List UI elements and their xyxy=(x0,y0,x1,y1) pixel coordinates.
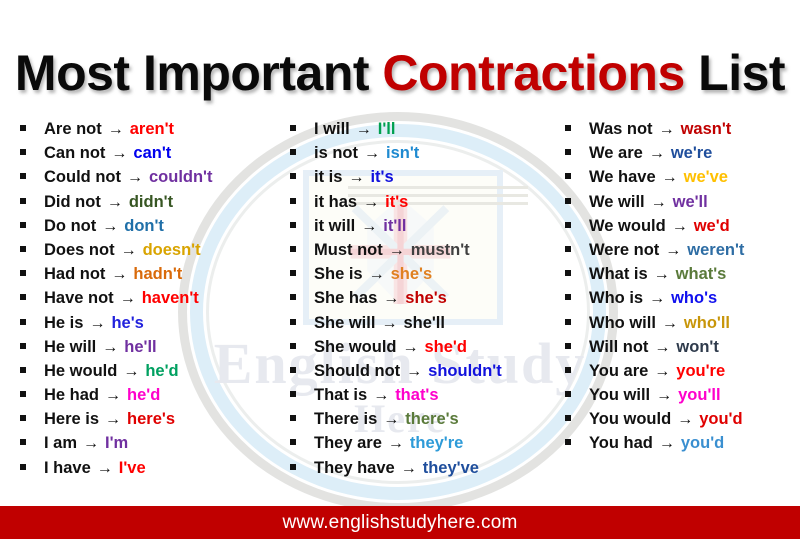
contraction-phrase: What is xyxy=(589,265,648,284)
contraction-row: She would→she'd xyxy=(290,338,545,362)
contraction-row: We are→we're xyxy=(565,144,800,168)
contraction-short-form: we'll xyxy=(673,193,708,212)
contraction-phrase: There is xyxy=(314,410,377,429)
contraction-row: He would→he'd xyxy=(20,362,270,386)
contraction-row: He will→he'll xyxy=(20,338,270,362)
arrow-icon: → xyxy=(108,121,124,139)
bullet-icon xyxy=(565,198,571,204)
bullet-icon xyxy=(290,198,296,204)
bullet-icon xyxy=(565,367,571,373)
contraction-phrase: We are xyxy=(589,144,643,163)
bullet-icon xyxy=(20,125,26,131)
contraction-phrase: it will xyxy=(314,217,355,236)
title-part-2: List xyxy=(685,45,785,101)
arrow-icon: → xyxy=(389,242,405,260)
contraction-short-form: he'll xyxy=(124,338,156,357)
contraction-short-form: we'd xyxy=(694,217,730,236)
contraction-row: Was not→wasn't xyxy=(565,120,800,144)
contraction-short-form: you'll xyxy=(678,386,720,405)
arrow-icon: → xyxy=(656,387,672,405)
arrow-icon: → xyxy=(659,435,675,453)
contraction-phrase: She is xyxy=(314,265,363,284)
bullet-icon xyxy=(565,439,571,445)
bullet-icon xyxy=(20,270,26,276)
arrow-icon: → xyxy=(356,121,372,139)
contraction-short-form: it's xyxy=(385,193,408,212)
arrow-icon: → xyxy=(651,194,667,212)
contraction-row: Do not→don't xyxy=(20,217,270,241)
contraction-short-form: he's xyxy=(111,314,143,333)
contraction-short-form: what's xyxy=(676,265,727,284)
contraction-phrase: it has xyxy=(314,193,357,212)
contraction-short-form: you'd xyxy=(699,410,742,429)
bullet-icon xyxy=(20,173,26,179)
bullet-icon xyxy=(20,391,26,397)
bullet-icon xyxy=(565,415,571,421)
contraction-short-form: she'll xyxy=(403,314,445,333)
bullet-icon xyxy=(565,294,571,300)
contraction-phrase: Did not xyxy=(44,193,101,212)
contraction-short-form: mustn't xyxy=(411,241,470,260)
contraction-row: Does not→doesn't xyxy=(20,241,270,265)
contraction-phrase: it is xyxy=(314,168,342,187)
contraction-row: I have→I've xyxy=(20,459,270,483)
contraction-row: Were not→weren't xyxy=(565,241,800,265)
contraction-short-form: there's xyxy=(405,410,458,429)
contraction-short-form: weren't xyxy=(687,241,744,260)
bullet-icon xyxy=(290,391,296,397)
contraction-row: Can not→can't xyxy=(20,144,270,168)
contraction-row: Had not→hadn't xyxy=(20,265,270,289)
contraction-row: She will→she'll xyxy=(290,314,545,338)
contraction-phrase: Could not xyxy=(44,168,121,187)
website-url: www.englishstudyhere.com xyxy=(282,512,517,534)
contraction-short-form: don't xyxy=(124,217,164,236)
contraction-short-form: who's xyxy=(671,289,717,308)
bullet-icon xyxy=(20,415,26,421)
contraction-phrase: Must not xyxy=(314,241,383,260)
contraction-short-form: wasn't xyxy=(681,120,732,139)
bullet-icon xyxy=(565,125,571,131)
contraction-row: Must not→mustn't xyxy=(290,241,545,265)
arrow-icon: → xyxy=(363,194,379,212)
arrow-icon: → xyxy=(83,435,99,453)
contraction-row: He had→he'd xyxy=(20,386,270,410)
bullet-icon xyxy=(290,464,296,470)
contraction-row: I will→I'll xyxy=(290,120,545,144)
title-part-1: Most Important xyxy=(15,45,382,101)
contraction-short-form: she's xyxy=(391,265,433,284)
contractions-list: Are not→aren'tCan not→can'tCould not→cou… xyxy=(0,120,800,483)
contraction-row: You had→you'd xyxy=(565,434,800,458)
bullet-icon xyxy=(290,125,296,131)
arrow-icon: → xyxy=(659,121,675,139)
contraction-row: is not→isn't xyxy=(290,144,545,168)
contraction-short-form: we're xyxy=(671,144,713,163)
arrow-icon: → xyxy=(89,315,105,333)
contractions-column-3: Was not→wasn'tWe are→we'reWe have→we'veW… xyxy=(545,120,800,483)
arrow-icon: → xyxy=(649,145,665,163)
contraction-short-form: haven't xyxy=(142,289,199,308)
bullet-icon xyxy=(565,319,571,325)
contraction-phrase: They have xyxy=(314,459,395,478)
contraction-row: They have→they've xyxy=(290,459,545,483)
arrow-icon: → xyxy=(383,290,399,308)
contraction-row: She is→she's xyxy=(290,265,545,289)
contraction-phrase: You are xyxy=(589,362,648,381)
contractions-column-2: I will→I'llis not→isn'tit is→it'sit has→… xyxy=(270,120,545,483)
arrow-icon: → xyxy=(654,266,670,284)
bullet-icon xyxy=(290,343,296,349)
contraction-phrase: Were not xyxy=(589,241,659,260)
bullet-icon xyxy=(290,367,296,373)
bullet-icon xyxy=(565,149,571,155)
footer-bar: www.englishstudyhere.com xyxy=(0,506,800,539)
contraction-phrase: She would xyxy=(314,338,397,357)
contraction-short-form: they've xyxy=(423,459,479,478)
contraction-row: She has→she's xyxy=(290,289,545,313)
contraction-row: Here is→here's xyxy=(20,410,270,434)
contraction-short-form: won't xyxy=(676,338,718,357)
contraction-short-form: she'd xyxy=(425,338,467,357)
contraction-short-form: hadn't xyxy=(133,265,182,284)
contraction-phrase: He will xyxy=(44,338,96,357)
contraction-row: He is→he's xyxy=(20,314,270,338)
bullet-icon xyxy=(20,439,26,445)
contraction-phrase: Who is xyxy=(589,289,643,308)
contraction-short-form: it'll xyxy=(383,217,406,236)
contraction-row: We have→we've xyxy=(565,168,800,192)
contraction-short-form: who'll xyxy=(684,314,730,333)
arrow-icon: → xyxy=(381,315,397,333)
bullet-icon xyxy=(290,270,296,276)
bullet-icon xyxy=(20,343,26,349)
contraction-row: That is→that's xyxy=(290,386,545,410)
contraction-row: Did not→didn't xyxy=(20,193,270,217)
arrow-icon: → xyxy=(677,411,693,429)
contraction-short-form: shouldn't xyxy=(428,362,502,381)
contraction-phrase: Who will xyxy=(589,314,656,333)
contraction-short-form: you're xyxy=(676,362,725,381)
contraction-row: Are not→aren't xyxy=(20,120,270,144)
arrow-icon: → xyxy=(127,169,143,187)
contraction-phrase: Should not xyxy=(314,362,400,381)
arrow-icon: → xyxy=(654,339,670,357)
arrow-icon: → xyxy=(111,145,127,163)
contraction-row: Have not→haven't xyxy=(20,289,270,313)
bullet-icon xyxy=(20,222,26,228)
arrow-icon: → xyxy=(401,460,417,478)
arrow-icon: → xyxy=(665,242,681,260)
bullet-icon xyxy=(290,222,296,228)
contraction-short-form: I'm xyxy=(105,434,128,453)
arrow-icon: → xyxy=(388,435,404,453)
page-title: Most Important Contractions List xyxy=(0,44,800,102)
contraction-row: You will→you'll xyxy=(565,386,800,410)
arrow-icon: → xyxy=(373,387,389,405)
arrow-icon: → xyxy=(123,363,139,381)
bullet-icon xyxy=(290,294,296,300)
contraction-phrase: He is xyxy=(44,314,83,333)
arrow-icon: → xyxy=(102,339,118,357)
contraction-row: Who will→who'll xyxy=(565,314,800,338)
bullet-icon xyxy=(565,391,571,397)
contraction-phrase: He would xyxy=(44,362,117,381)
contraction-row: Could not→couldn't xyxy=(20,168,270,192)
contraction-row: it has→it's xyxy=(290,193,545,217)
contraction-phrase: They are xyxy=(314,434,382,453)
bullet-icon xyxy=(290,246,296,252)
arrow-icon: → xyxy=(107,194,123,212)
bullet-icon xyxy=(565,246,571,252)
contraction-row: it will→it'll xyxy=(290,217,545,241)
contraction-short-form: can't xyxy=(133,144,171,163)
arrow-icon: → xyxy=(672,218,688,236)
arrow-icon: → xyxy=(121,242,137,260)
contraction-short-form: she's xyxy=(405,289,447,308)
contraction-phrase: Had not xyxy=(44,265,105,284)
contraction-row: There is→there's xyxy=(290,410,545,434)
contraction-short-form: he'd xyxy=(127,386,160,405)
contraction-row: Who is→who's xyxy=(565,289,800,313)
contraction-short-form: they're xyxy=(410,434,463,453)
contraction-row: They are→they're xyxy=(290,434,545,458)
title-highlight: Contractions xyxy=(382,45,684,101)
arrow-icon: → xyxy=(403,339,419,357)
arrow-icon: → xyxy=(361,218,377,236)
contraction-phrase: Here is xyxy=(44,410,99,429)
contraction-phrase: is not xyxy=(314,144,358,163)
contraction-row: We would→we'd xyxy=(565,217,800,241)
bullet-icon xyxy=(20,246,26,252)
contraction-short-form: he'd xyxy=(145,362,178,381)
bullet-icon xyxy=(20,367,26,373)
bullet-icon xyxy=(290,173,296,179)
bullet-icon xyxy=(290,319,296,325)
contraction-phrase: That is xyxy=(314,386,367,405)
arrow-icon: → xyxy=(120,290,136,308)
bullet-icon xyxy=(565,222,571,228)
contraction-phrase: Does not xyxy=(44,241,115,260)
contraction-row: Should not→shouldn't xyxy=(290,362,545,386)
contraction-phrase: Was not xyxy=(589,120,653,139)
contraction-short-form: aren't xyxy=(130,120,174,139)
contraction-phrase: I will xyxy=(314,120,350,139)
contraction-phrase: You would xyxy=(589,410,671,429)
bullet-icon xyxy=(20,319,26,325)
contraction-phrase: I have xyxy=(44,459,91,478)
arrow-icon: → xyxy=(662,169,678,187)
arrow-icon: → xyxy=(105,387,121,405)
contraction-short-form: I've xyxy=(119,459,146,478)
bullet-icon xyxy=(565,173,571,179)
contraction-phrase: Have not xyxy=(44,289,114,308)
contraction-phrase: Can not xyxy=(44,144,105,163)
contraction-short-form: it's xyxy=(370,168,393,187)
contraction-short-form: I'll xyxy=(378,120,396,139)
contraction-phrase: We would xyxy=(589,217,666,236)
contraction-phrase: You had xyxy=(589,434,653,453)
contraction-phrase: You will xyxy=(589,386,650,405)
contraction-short-form: doesn't xyxy=(143,241,201,260)
contraction-row: What is→what's xyxy=(565,265,800,289)
arrow-icon: → xyxy=(97,460,113,478)
arrow-icon: → xyxy=(364,145,380,163)
contraction-phrase: Will not xyxy=(589,338,648,357)
contraction-short-form: isn't xyxy=(386,144,419,163)
contraction-phrase: Are not xyxy=(44,120,102,139)
contraction-short-form: that's xyxy=(395,386,438,405)
arrow-icon: → xyxy=(102,218,118,236)
contraction-row: I am→I'm xyxy=(20,434,270,458)
bullet-icon xyxy=(290,149,296,155)
bullet-icon xyxy=(20,149,26,155)
contractions-column-1: Are not→aren'tCan not→can'tCould not→cou… xyxy=(0,120,270,483)
contraction-phrase: She has xyxy=(314,289,377,308)
contraction-row: You are→you're xyxy=(565,362,800,386)
arrow-icon: → xyxy=(654,363,670,381)
contraction-row: Will not→won't xyxy=(565,338,800,362)
contraction-row: it is→it's xyxy=(290,168,545,192)
arrow-icon: → xyxy=(383,411,399,429)
bullet-icon xyxy=(565,343,571,349)
contraction-short-form: here's xyxy=(127,410,175,429)
bullet-icon xyxy=(565,270,571,276)
arrow-icon: → xyxy=(662,315,678,333)
bullet-icon xyxy=(20,464,26,470)
arrow-icon: → xyxy=(369,266,385,284)
contraction-short-form: you'd xyxy=(681,434,724,453)
contraction-phrase: Do not xyxy=(44,217,96,236)
arrow-icon: → xyxy=(105,411,121,429)
contraction-phrase: We will xyxy=(589,193,645,212)
arrow-icon: → xyxy=(111,266,127,284)
contraction-short-form: we've xyxy=(684,168,728,187)
contraction-phrase: I am xyxy=(44,434,77,453)
contraction-phrase: He had xyxy=(44,386,99,405)
bullet-icon xyxy=(290,439,296,445)
contraction-phrase: She will xyxy=(314,314,375,333)
contraction-short-form: couldn't xyxy=(149,168,213,187)
contraction-row: We will→we'll xyxy=(565,193,800,217)
bullet-icon xyxy=(290,415,296,421)
contraction-row: You would→you'd xyxy=(565,410,800,434)
arrow-icon: → xyxy=(406,363,422,381)
arrow-icon: → xyxy=(649,290,665,308)
bullet-icon xyxy=(20,198,26,204)
bullet-icon xyxy=(20,294,26,300)
contraction-short-form: didn't xyxy=(129,193,173,212)
arrow-icon: → xyxy=(348,169,364,187)
contraction-phrase: We have xyxy=(589,168,656,187)
